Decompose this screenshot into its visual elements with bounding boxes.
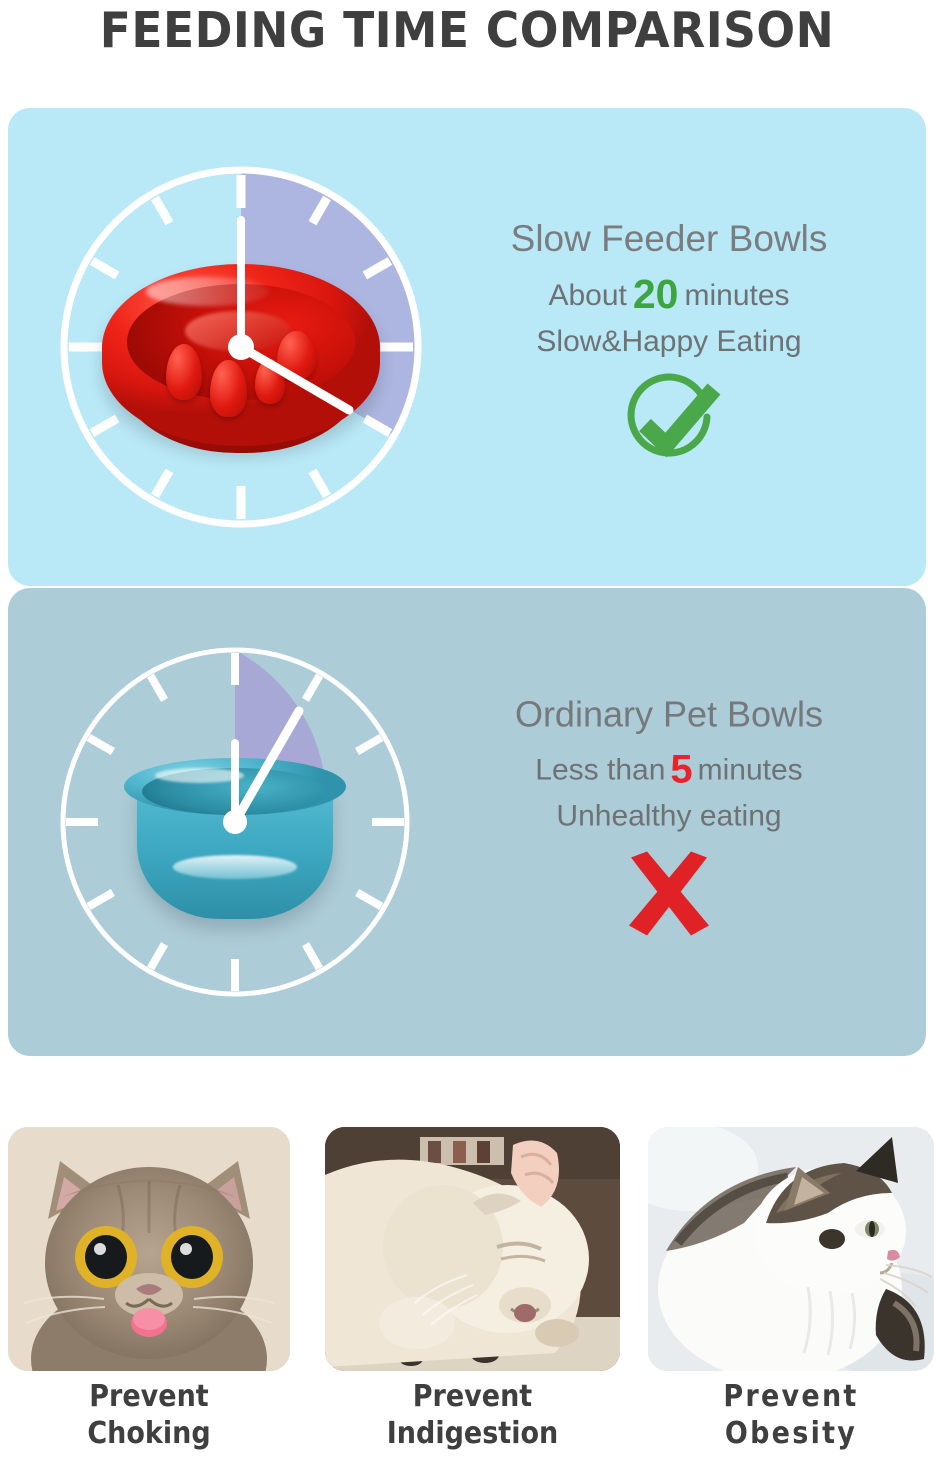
benefit-caption-indigestion-line1: Prevent [340,1378,606,1415]
ordinary-duration-number: 5 [665,748,697,792]
ordinary-mark [424,848,914,952]
ordinary-text-block: Ordinary Pet Bowls Less than5minutes Unh… [424,693,914,952]
benefit-photo-choking [8,1127,290,1371]
benefit-caption-obesity-line1: Prevent [662,1378,919,1415]
slow-feeder-subtitle: Slow&Happy Eating [424,323,914,361]
slow-feeder-mark [424,373,914,477]
panel-slow-feeder: Slow Feeder Bowls About20minutes Slow&Ha… [8,108,926,586]
cream-cat-sleeping-being-petted-illustration [325,1127,620,1371]
slow-feeder-duration-line: About20minutes [424,275,914,315]
slow-feeder-duration-number: 20 [627,271,685,317]
infographic-root: FEEDING TIME COMPARISON [0,0,934,1461]
page-title: FEEDING TIME COMPARISON [33,3,902,59]
benefit-caption-choking-line1: Prevent [22,1378,276,1415]
clock-center-cap-slow [228,334,254,360]
ordinary-heading: Ordinary Pet Bowls [424,693,914,737]
obese-white-tabby-cat-illustration [648,1127,934,1371]
surprised-gray-tabby-cat-tongue-out-illustration [8,1127,290,1371]
slow-feeder-duration-suffix: minutes [684,279,789,312]
benefit-caption-choking: Prevent Choking [22,1378,276,1452]
benefit-photo-indigestion [325,1127,620,1371]
clock-ordinary [46,633,424,1011]
clock-hour-hand-slow [241,347,349,410]
benefit-caption-indigestion-line2: Indigestion [340,1415,606,1452]
clock-slow-feeder [46,152,436,542]
benefit-caption-obesity: Prevent Obesity [662,1378,919,1452]
slow-feeder-duration-prefix: About [548,279,626,312]
check-icon [615,373,723,473]
slow-feeder-text-block: Slow Feeder Bowls About20minutes Slow&Ha… [424,217,914,477]
clock-hands-ordinary [46,633,424,1011]
cross-icon [617,848,721,948]
clock-center-cap-ordinary [223,810,247,834]
benefit-photo-obesity [648,1127,934,1371]
ordinary-subtitle: Unhealthy eating [424,798,914,836]
ordinary-duration-line: Less than5minutes [424,751,914,790]
benefit-caption-choking-line2: Choking [22,1415,276,1452]
ordinary-duration-prefix: Less than [535,754,665,787]
ordinary-duration-suffix: minutes [698,754,803,787]
panel-ordinary-bowl: Ordinary Pet Bowls Less than5minutes Unh… [8,588,926,1056]
slow-feeder-heading: Slow Feeder Bowls [424,217,914,261]
benefit-caption-obesity-line2: Obesity [662,1415,919,1452]
benefits-thumbnail-row [0,1127,934,1371]
clock-hour-hand-ordinary [235,711,299,822]
benefit-caption-indigestion: Prevent Indigestion [340,1378,606,1452]
clock-hands-slow [46,152,436,542]
